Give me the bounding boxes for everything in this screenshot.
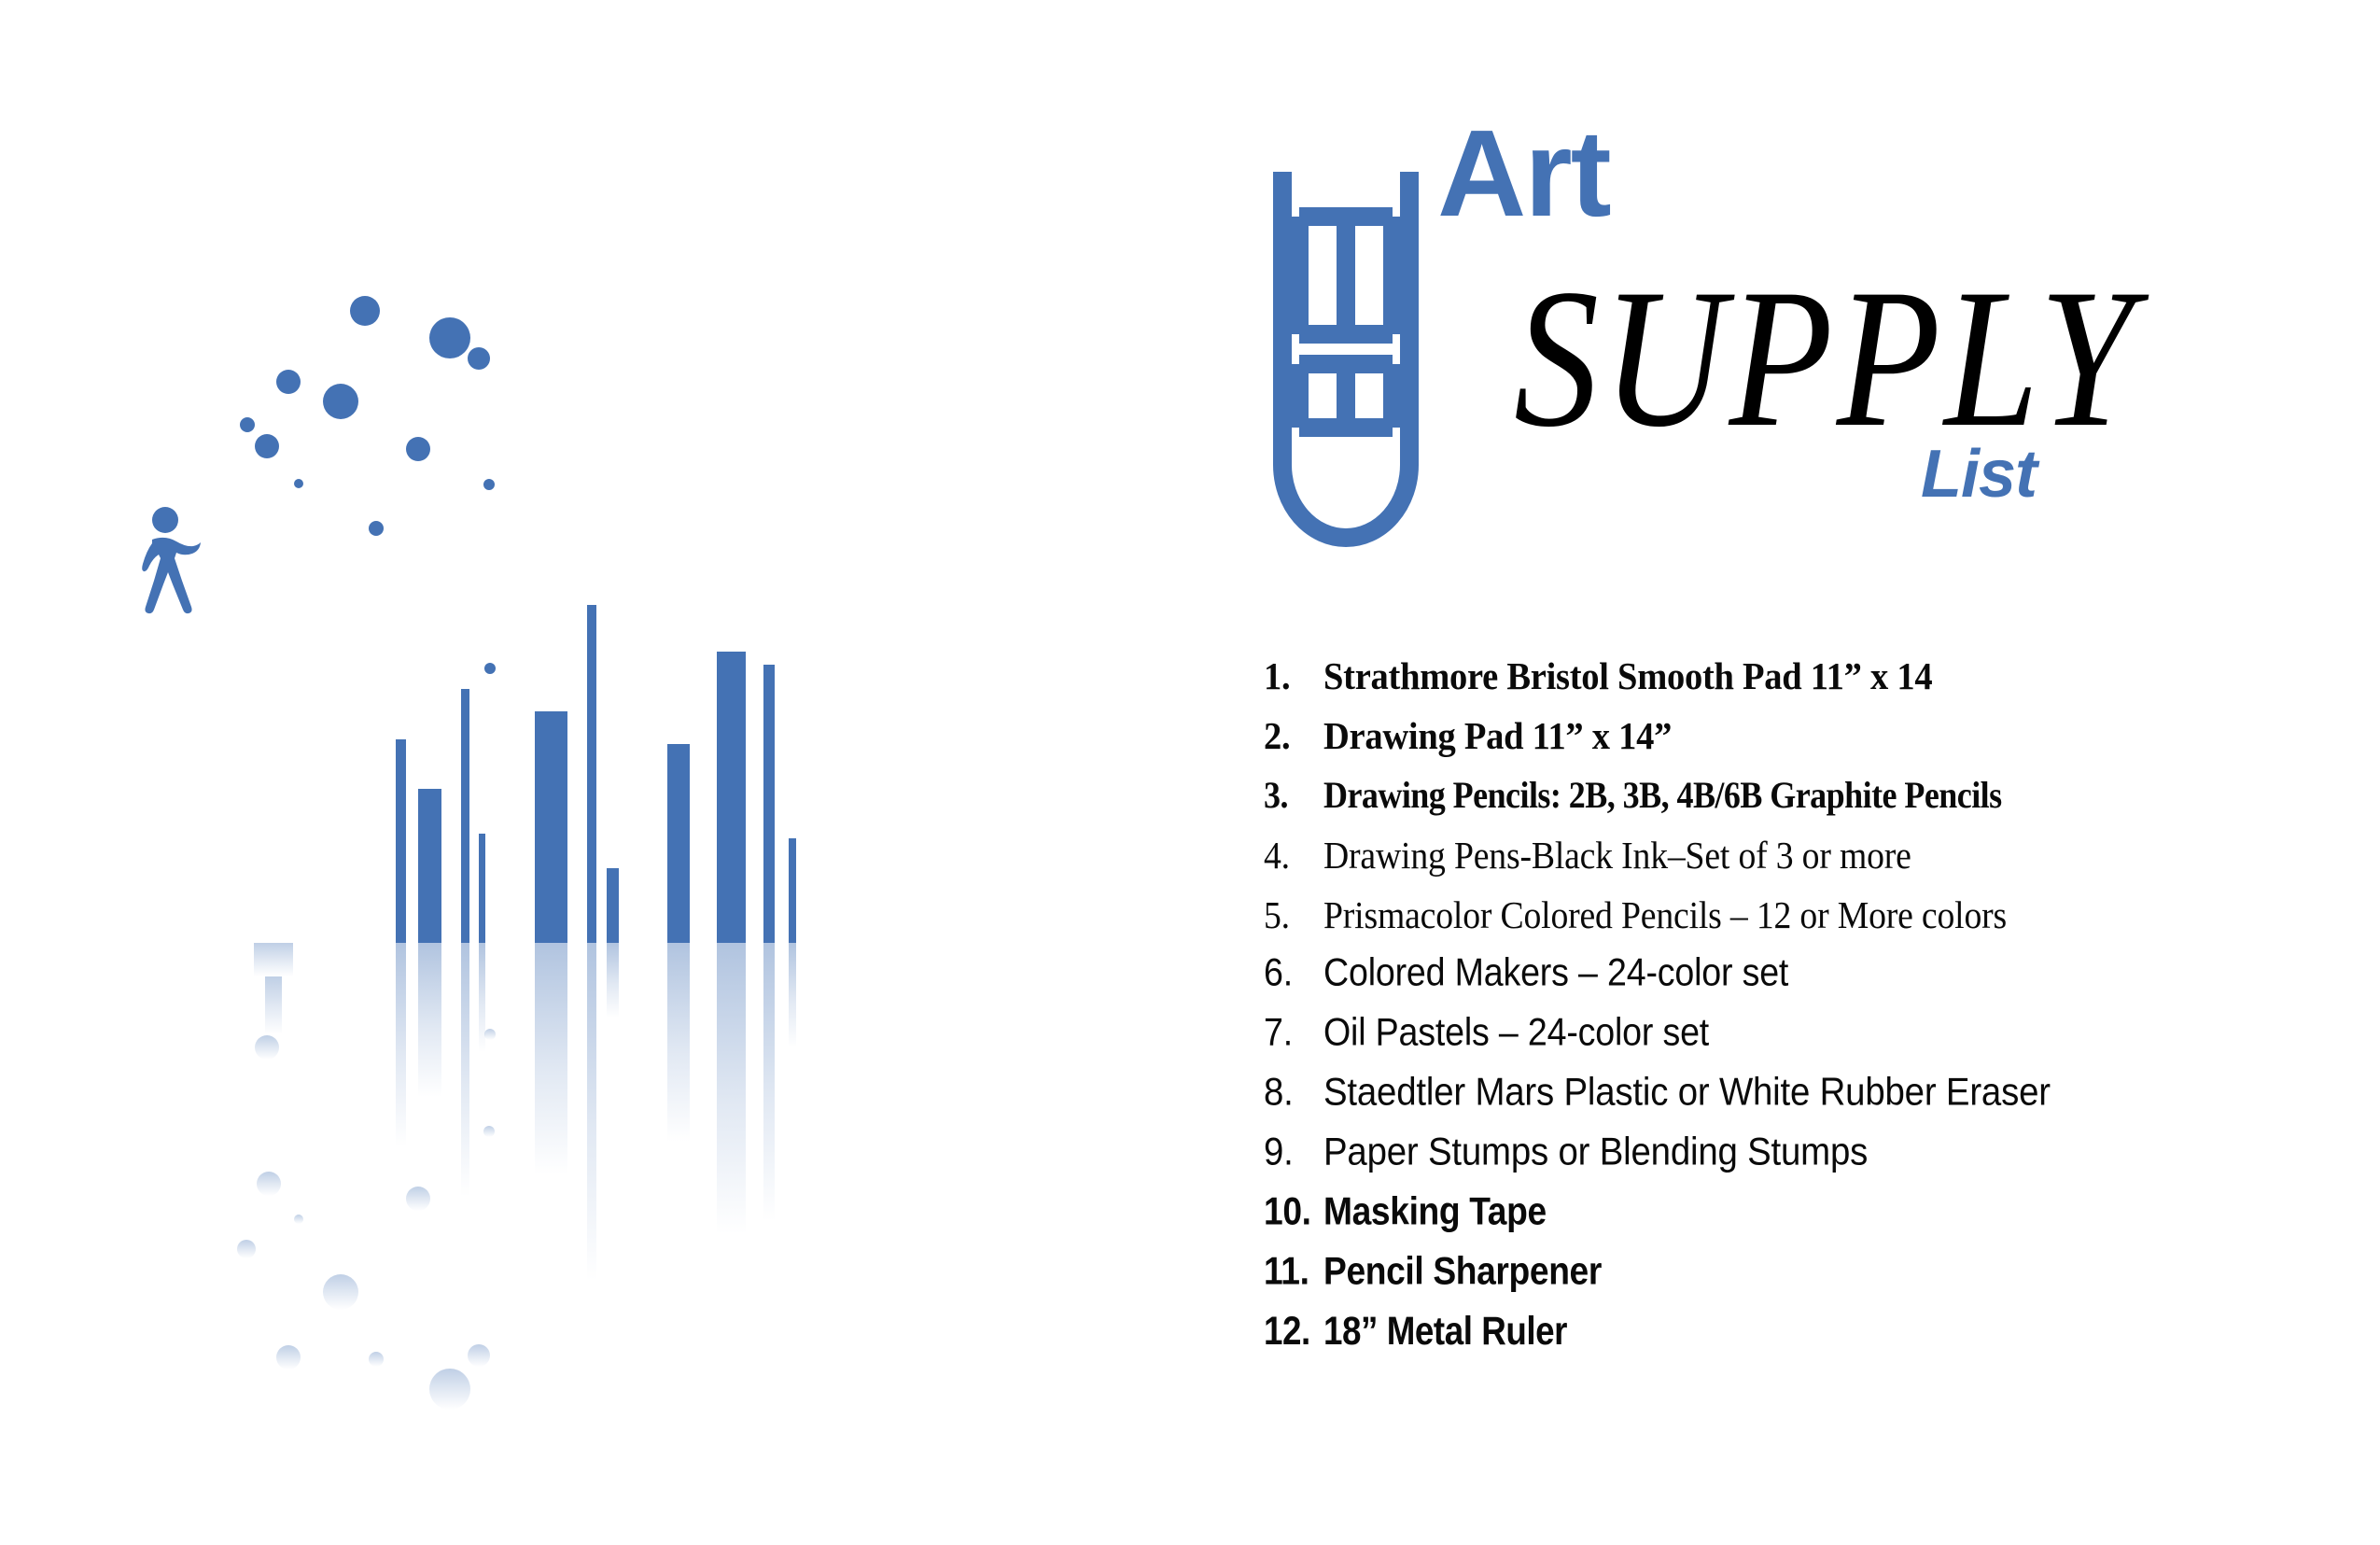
chart-bars — [396, 605, 796, 943]
abstract-bar-chart-illustration — [0, 0, 1251, 1540]
title-word-list: List — [1921, 441, 2037, 508]
list-item-label: Staedtler Mars Plastic or White Rubber E… — [1323, 1071, 2323, 1115]
list-item-label: Oil Pastels – 24-color set — [1323, 1011, 2303, 1055]
list-item-number: 8. — [1264, 1071, 1321, 1115]
list-item-number: 2. — [1264, 713, 1320, 758]
list-item-label: Colored Makers – 24-color set — [1323, 951, 2303, 995]
list-item-number: 9. — [1264, 1131, 1321, 1174]
chart-svg — [0, 0, 1251, 1540]
list-item-number: 7. — [1264, 1011, 1320, 1055]
title-block: Art SUPPLY List — [1251, 112, 2380, 579]
list-item: 3. Drawing Pencils: 2B, 3B, 4B/6B Graphi… — [1264, 773, 2365, 833]
list-item-label: Paper Stumps or Blending Stumps — [1323, 1131, 2323, 1174]
reflection-group — [237, 943, 796, 1410]
list-item-number: 1. — [1264, 653, 1320, 698]
title-word-supply: SUPPLY — [1514, 260, 2137, 458]
list-item-label: Drawing Pencils: 2B, 3B, 4B/6B Graphite … — [1323, 773, 2261, 817]
list-item-label: Masking Tape — [1323, 1190, 2292, 1234]
title-word-art: Art — [1437, 112, 1610, 235]
list-item: 7. Oil Pastels – 24-color set — [1264, 1012, 2365, 1072]
list-item-number: 11. — [1264, 1250, 1320, 1294]
right-panel: Art SUPPLY List 1. Strathmore Bristol Sm… — [1251, 0, 2380, 1540]
chart-bubbles — [240, 296, 496, 674]
list-item: 8. Staedtler Mars Plastic or White Rubbe… — [1264, 1072, 2365, 1131]
list-item-label: Prismacolor Colored Pencils – 12 or More… — [1323, 892, 2282, 937]
person-silhouette-icon — [142, 507, 201, 613]
list-item-number: 10. — [1264, 1190, 1320, 1234]
marker-pen-icon — [1262, 147, 1430, 549]
list-item-number: 12. — [1264, 1310, 1319, 1355]
list-item: 1. Strathmore Bristol Smooth Pad 11” x 1… — [1264, 653, 2365, 713]
list-item-number: 4. — [1264, 833, 1319, 878]
list-item-label: Strathmore Bristol Smooth Pad 11” x 14 — [1323, 653, 2303, 698]
list-item: 12. 18” Metal Ruler — [1264, 1311, 2365, 1370]
list-item: 6. Colored Makers – 24-color set — [1264, 952, 2365, 1012]
list-item-label: Pencil Sharpener — [1323, 1250, 2292, 1294]
list-item: 9. Paper Stumps or Blending Stumps — [1264, 1131, 2365, 1191]
supply-list: 1. Strathmore Bristol Smooth Pad 11” x 1… — [1264, 653, 2365, 1370]
list-item: 4. Drawing Pens-Black Ink–Set of 3 or mo… — [1264, 833, 2365, 892]
list-item: 2. Drawing Pad 11” x 14” — [1264, 713, 2365, 773]
list-item: 5. Prismacolor Colored Pencils – 12 or M… — [1264, 892, 2365, 952]
list-item-label: 18” Metal Ruler — [1323, 1310, 2282, 1355]
list-item-label: Drawing Pad 11” x 14” — [1323, 713, 2303, 758]
list-item: 11. Pencil Sharpener — [1264, 1251, 2365, 1311]
list-item-label: Drawing Pens-Black Ink–Set of 3 or more — [1323, 833, 2282, 878]
list-item-number: 6. — [1264, 951, 1320, 995]
list-item-number: 5. — [1264, 892, 1319, 937]
list-item: 10. Masking Tape — [1264, 1191, 2365, 1251]
list-item-number: 3. — [1264, 773, 1318, 817]
